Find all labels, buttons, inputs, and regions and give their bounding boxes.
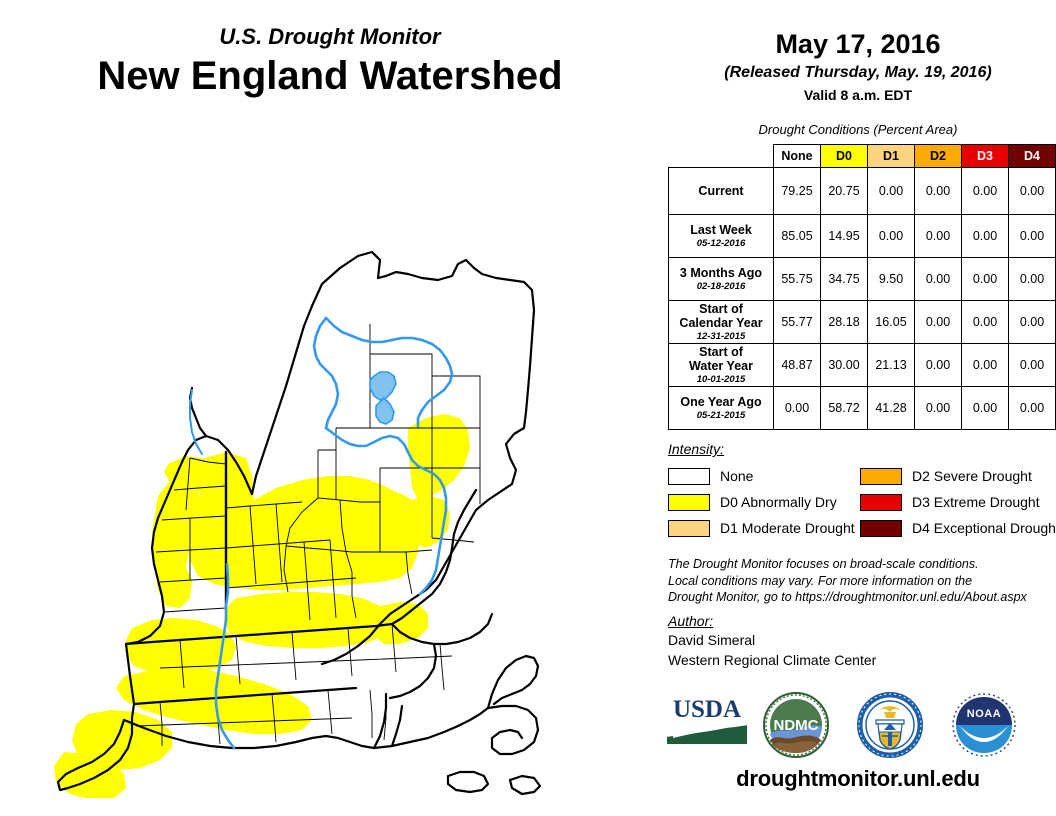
cell-3-months-d1: 9.50 (868, 258, 915, 301)
row-label-3-months-ago: 3 Months Ago 02-18-2016 (669, 258, 774, 301)
date-block: May 17, 2016 (Released Thursday, May. 19… (660, 28, 1056, 104)
row-label-start-calendar-year: Start of Calendar Year 12-31-2015 (669, 301, 774, 344)
column-header-d2: D2 (915, 145, 962, 168)
column-header-d1: D1 (868, 145, 915, 168)
usdc-seal-logo[interactable] (854, 690, 926, 760)
cell-current-none: 79.25 (774, 168, 821, 215)
drought-conditions-table-wrap: None D0 D1 D2 D3 D4 Current 79.25 20 (668, 144, 1056, 430)
ndmc-logo[interactable]: NDMC (760, 690, 832, 760)
row-label-date: 05-21-2015 (669, 410, 773, 422)
author-label: Author: (668, 612, 1056, 630)
cell-3-months-d0: 34.75 (821, 258, 868, 301)
cell-last-week-d3: 0.00 (962, 215, 1009, 258)
cell-calendar-d3: 0.00 (962, 301, 1009, 344)
legend-swatch-d4 (860, 520, 902, 537)
row-label-text: 3 Months Ago (680, 266, 762, 280)
column-header-d4: D4 (1009, 145, 1056, 168)
row-label-text: Last Week (690, 223, 752, 237)
table-row: One Year Ago 05-21-2015 0.00 58.72 41.28… (669, 387, 1056, 430)
logo-row: USDA NDMC (660, 690, 1056, 762)
row-label-line1: Start of (699, 345, 743, 359)
legend-label-d3: D3 Extreme Drought (912, 494, 1040, 511)
cell-last-week-none: 85.05 (774, 215, 821, 258)
row-label-text: One Year Ago (680, 395, 761, 409)
drought-map[interactable] (40, 128, 640, 798)
page-title: New England Watershed (0, 52, 660, 100)
noaa-logo[interactable]: NOAA (948, 690, 1020, 760)
cell-3-months-none: 55.75 (774, 258, 821, 301)
cell-calendar-none: 55.77 (774, 301, 821, 344)
legend-column-right: D2 Severe Drought D3 Extreme Drought D4 … (860, 464, 1056, 542)
column-header-d0: D0 (821, 145, 868, 168)
cell-one-year-d4: 0.00 (1009, 387, 1056, 430)
legend-label-d1: D1 Moderate Drought (720, 520, 855, 537)
new-england-watershed-map-svg[interactable] (40, 128, 640, 798)
legend-label-d4: D4 Exceptional Drought (912, 520, 1056, 537)
disclaimer-line-1: The Drought Monitor focuses on broad-sca… (668, 556, 1056, 573)
author-block: Author: David Simeral Western Regional C… (668, 612, 1056, 670)
cell-last-week-d1: 0.00 (868, 215, 915, 258)
cell-water-d4: 0.00 (1009, 344, 1056, 387)
legend-swatch-d3 (860, 494, 902, 511)
row-label-one-year-ago: One Year Ago 05-21-2015 (669, 387, 774, 430)
cell-one-year-d1: 41.28 (868, 387, 915, 430)
valid-date: May 17, 2016 (660, 28, 1056, 60)
row-label-line2: Calendar Year (679, 316, 762, 330)
cell-last-week-d2: 0.00 (915, 215, 962, 258)
cell-water-d2: 0.00 (915, 344, 962, 387)
cell-3-months-d2: 0.00 (915, 258, 962, 301)
disclaimer-line-2: Local conditions may vary. For more info… (668, 573, 1056, 590)
row-label-start-water-year: Start of Water Year 10-01-2015 (669, 344, 774, 387)
dm-supertitle: U.S. Drought Monitor (0, 24, 660, 50)
cell-calendar-d4: 0.00 (1009, 301, 1056, 344)
legend-label-d2: D2 Severe Drought (912, 468, 1032, 485)
cell-one-year-d2: 0.00 (915, 387, 962, 430)
header-spacer (669, 145, 774, 168)
legend-item-d0: D0 Abnormally Dry (668, 490, 858, 514)
cell-current-d3: 0.00 (962, 168, 1009, 215)
column-header-none: None (774, 145, 821, 168)
table-header-row: None D0 D1 D2 D3 D4 (669, 145, 1056, 168)
row-label-date: 02-18-2016 (669, 281, 773, 293)
cell-one-year-d0: 58.72 (821, 387, 868, 430)
ndmc-logo-text: NDMC (774, 717, 819, 734)
cell-3-months-d4: 0.00 (1009, 258, 1056, 301)
row-label-date: 05-12-2016 (669, 238, 773, 250)
disclaimer: The Drought Monitor focuses on broad-sca… (668, 556, 1056, 606)
cell-current-d1: 0.00 (868, 168, 915, 215)
site-url[interactable]: droughtmonitor.unl.edu (660, 766, 1056, 792)
cell-calendar-d1: 16.05 (868, 301, 915, 344)
row-label-line2: Water Year (689, 359, 753, 373)
cell-current-d4: 0.00 (1009, 168, 1056, 215)
row-label-current: Current (669, 168, 774, 215)
author-affiliation: Western Regional Climate Center (668, 650, 1056, 670)
legend-swatch-none (668, 468, 710, 485)
cell-one-year-d3: 0.00 (962, 387, 1009, 430)
row-label-line1: Start of (699, 302, 743, 316)
table-row: Start of Water Year 10-01-2015 48.87 30.… (669, 344, 1056, 387)
legend-swatch-d1 (668, 520, 710, 537)
cell-water-d0: 30.00 (821, 344, 868, 387)
column-header-d3: D3 (962, 145, 1009, 168)
cell-calendar-d2: 0.00 (915, 301, 962, 344)
usdc-seal-svg (854, 690, 926, 760)
cell-calendar-d0: 28.18 (821, 301, 868, 344)
legend-title: Intensity: (668, 441, 1056, 457)
release-date: (Released Thursday, May. 19, 2016) (660, 63, 1056, 83)
usda-logo[interactable]: USDA (663, 690, 751, 752)
cell-water-d3: 0.00 (962, 344, 1009, 387)
intensity-legend: Intensity: None D0 Abnormally Dry D1 Mod… (668, 441, 1056, 542)
legend-item-d1: D1 Moderate Drought (668, 516, 858, 540)
cell-water-d1: 21.13 (868, 344, 915, 387)
ndmc-logo-svg: NDMC (760, 690, 832, 760)
legend-column-left: None D0 Abnormally Dry D1 Moderate Droug… (668, 464, 858, 542)
cell-last-week-d4: 0.00 (1009, 215, 1056, 258)
title-block: U.S. Drought Monitor New England Watersh… (0, 24, 660, 100)
noaa-logo-svg: NOAA (948, 690, 1020, 760)
legend-label-d0: D0 Abnormally Dry (720, 494, 837, 511)
legend-item-d3: D3 Extreme Drought (860, 490, 1056, 514)
cell-one-year-none: 0.00 (774, 387, 821, 430)
drought-conditions-table: None D0 D1 D2 D3 D4 Current 79.25 20 (668, 144, 1056, 430)
legend-item-d4: D4 Exceptional Drought (860, 516, 1056, 540)
row-label-text: Current (698, 184, 743, 198)
disclaimer-line-3[interactable]: Drought Monitor, go to https://droughtmo… (668, 589, 1056, 606)
cell-water-none: 48.87 (774, 344, 821, 387)
noaa-logo-text: NOAA (967, 708, 1001, 720)
valid-time: Valid 8 a.m. EDT (660, 86, 1056, 104)
table-row: Start of Calendar Year 12-31-2015 55.77 … (669, 301, 1056, 344)
row-label-last-week: Last Week 05-12-2016 (669, 215, 774, 258)
info-panel: May 17, 2016 (Released Thursday, May. 19… (660, 0, 1056, 816)
map-panel: U.S. Drought Monitor New England Watersh… (0, 0, 660, 816)
legend-swatch-d2 (860, 468, 902, 485)
cell-current-d0: 20.75 (821, 168, 868, 215)
cell-last-week-d0: 14.95 (821, 215, 868, 258)
table-row: Current 79.25 20.75 0.00 0.00 0.00 0.00 (669, 168, 1056, 215)
row-label-date: 12-31-2015 (669, 331, 773, 343)
author-name: David Simeral (668, 630, 1056, 650)
row-label-date: 10-01-2015 (669, 374, 773, 386)
usda-logo-text: USDA (673, 696, 741, 723)
table-row: 3 Months Ago 02-18-2016 55.75 34.75 9.50… (669, 258, 1056, 301)
legend-item-none: None (668, 464, 858, 488)
cell-3-months-d3: 0.00 (962, 258, 1009, 301)
legend-swatch-d0 (668, 494, 710, 511)
legend-item-d2: D2 Severe Drought (860, 464, 1056, 488)
legend-label-none: None (720, 468, 753, 485)
legend-grid: None D0 Abnormally Dry D1 Moderate Droug… (668, 464, 1056, 542)
table-caption: Drought Conditions (Percent Area) (660, 122, 1056, 138)
usda-logo-svg: USDA (663, 690, 751, 752)
cell-current-d2: 0.00 (915, 168, 962, 215)
drought-monitor-page: U.S. Drought Monitor New England Watersh… (0, 0, 1056, 816)
table-row: Last Week 05-12-2016 85.05 14.95 0.00 0.… (669, 215, 1056, 258)
